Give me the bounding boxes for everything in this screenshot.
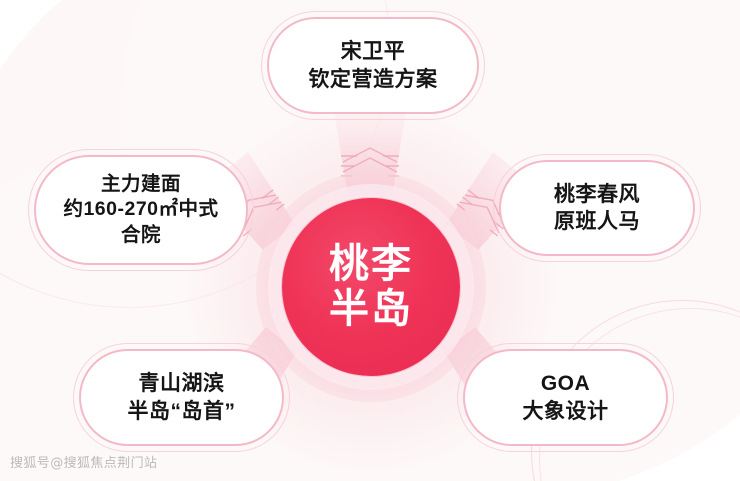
feature-bubble-developer-label: 宋卫平 钦定营造方案 — [299, 38, 448, 93]
infographic-canvas: 桃李 半岛 宋卫平 钦定营造方案 主力建面 约160-270㎡中式 合院 桃李春… — [0, 0, 740, 481]
feature-bubble-design[interactable]: GOA 大象设计 — [463, 349, 668, 446]
hub-circle: 桃李 半岛 — [282, 198, 460, 376]
feature-bubble-design-label: GOA 大象设计 — [513, 370, 619, 425]
feature-bubble-location-label: 青山湖滨 半岛“岛首” — [118, 370, 246, 425]
watermark: 搜狐号@搜狐焦点荆门站 — [10, 452, 157, 471]
feature-bubble-area[interactable]: 主力建面 约160-270㎡中式 合院 — [34, 155, 248, 265]
feature-bubble-location[interactable]: 青山湖滨 半岛“岛首” — [79, 349, 284, 446]
hub-title-line-1: 桃李 — [329, 242, 413, 287]
feature-bubble-area-label: 主力建面 约160-270㎡中式 合院 — [53, 172, 228, 248]
hub-title-line-2: 半岛 — [329, 287, 413, 332]
feature-bubble-developer[interactable]: 宋卫平 钦定营造方案 — [267, 17, 479, 114]
watermark-label: 搜狐号@搜狐焦点荆门站 — [10, 452, 157, 471]
feature-bubble-team[interactable]: 桃李春风 原班人马 — [499, 160, 695, 256]
feature-bubble-team-label: 桃李春风 原班人马 — [544, 181, 650, 236]
